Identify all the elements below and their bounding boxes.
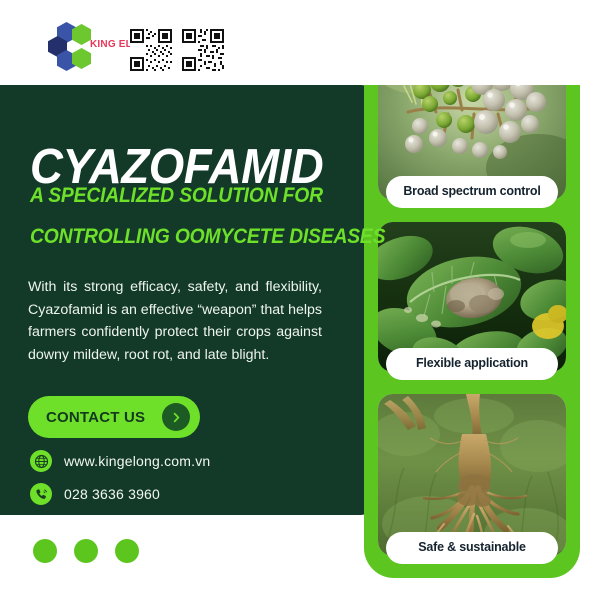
body-paragraph: With its strong efficacy, safety, and fl… (28, 276, 322, 366)
qr-code-icon-2[interactable] (182, 29, 224, 71)
contact-us-label: CONTACT US (46, 409, 145, 426)
feature-cards-panel: Broad spectrum control (364, 22, 580, 578)
website-row[interactable]: www.kingelong.com.vn (30, 450, 210, 472)
phone-icon (30, 483, 52, 505)
brand-logo: KING ELONG (48, 22, 143, 70)
dot-1 (33, 539, 57, 563)
feature-card-3-label: Safe & sustainable (386, 532, 558, 564)
qr-code-icon-1[interactable] (130, 29, 172, 71)
feature-card-1-label: Broad spectrum control (386, 176, 558, 208)
dot-3 (115, 539, 139, 563)
feature-card-2-label: Flexible application (386, 348, 558, 380)
feature-card-3[interactable]: Safe & sustainable (378, 394, 566, 556)
decorative-dots (33, 539, 139, 563)
contact-us-button[interactable]: CONTACT US (28, 396, 200, 438)
dot-2 (74, 539, 98, 563)
feature-card-2[interactable]: Flexible application (378, 222, 566, 372)
subtitle-line-1: A SPECIALIZED SOLUTION FOR (30, 184, 323, 208)
chevron-right-icon (162, 403, 190, 431)
website-text: www.kingelong.com.vn (64, 453, 210, 469)
subtitle-line-2: CONTROLLING OOMYCETE DISEASES (30, 225, 385, 249)
promotional-poster: KING ELONG (0, 0, 600, 600)
header-bar: KING ELONG (0, 0, 600, 85)
phone-text: 028 3636 3960 (64, 486, 160, 502)
hexagon-logo-mark (48, 22, 90, 70)
globe-icon (30, 450, 52, 472)
phone-row[interactable]: 028 3636 3960 (30, 483, 160, 505)
